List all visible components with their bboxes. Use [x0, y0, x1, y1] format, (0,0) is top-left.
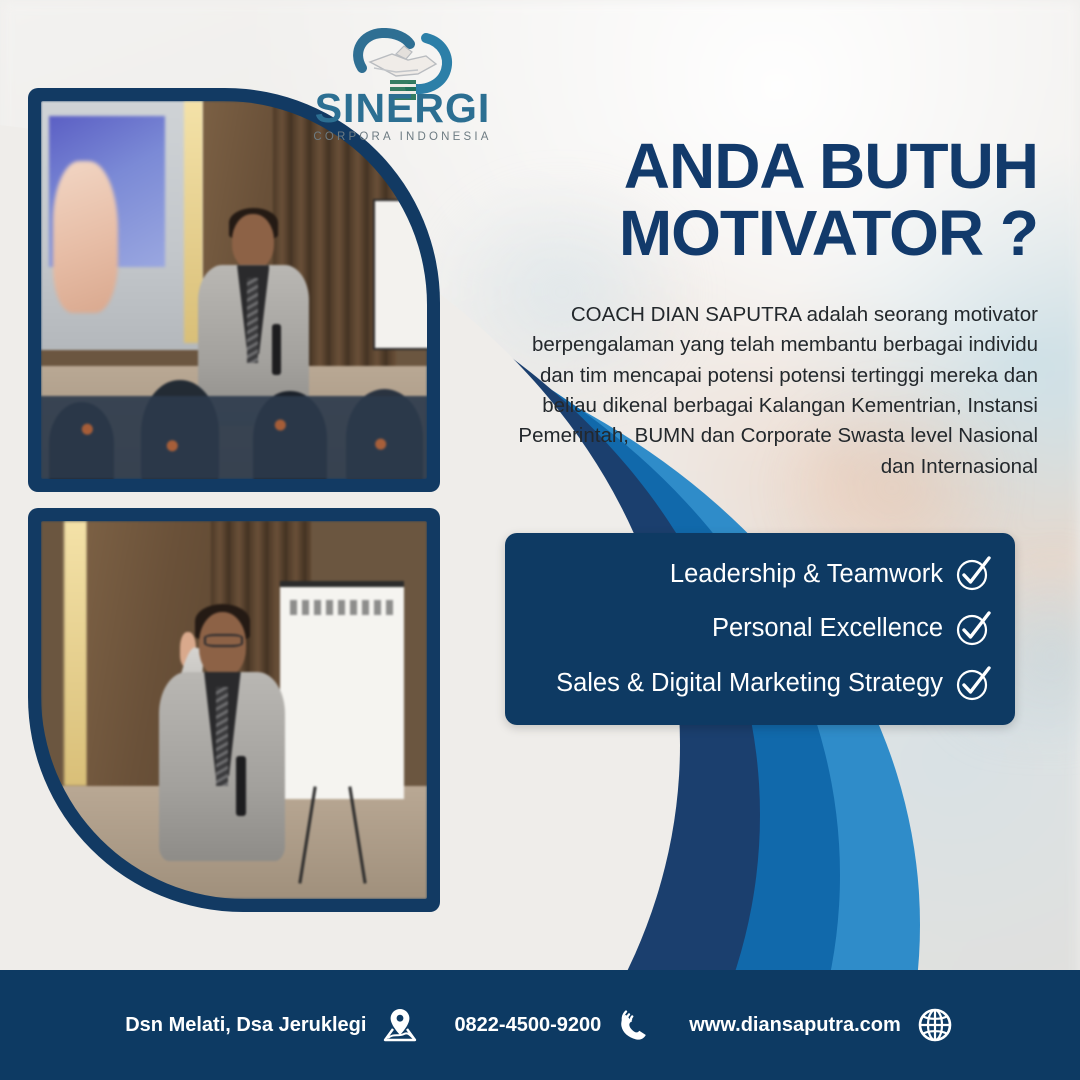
service-item[interactable]: Personal Excellence: [525, 609, 993, 649]
services-box: Leadership & Teamwork Personal Excellenc…: [505, 533, 1015, 725]
footer-website-label: www.diansaputra.com: [689, 1014, 901, 1037]
service-item[interactable]: Leadership & Teamwork: [525, 554, 993, 594]
poster-canvas: SINERGI CORPORA INDONESIA ANDA BUTUH MOT…: [0, 0, 1080, 1080]
contact-footer: Dsn Melati, Dsa Jeruklegi 0822-4500-9200…: [0, 970, 1080, 1080]
map-pin-icon: [380, 1005, 420, 1045]
footer-phone-label: 0822-4500-9200: [454, 1014, 601, 1037]
footer-address-label: Dsn Melati, Dsa Jeruklegi: [125, 1014, 366, 1037]
photo-bottom-image: [41, 521, 427, 899]
headline: ANDA BUTUH MOTIVATOR ?: [418, 136, 1038, 265]
check-circle-icon: [953, 554, 993, 594]
photo-frame-bottom: [28, 508, 440, 912]
globe-icon: [915, 1005, 955, 1045]
headline-line-2: MOTIVATOR ?: [418, 203, 1038, 264]
service-label: Personal Excellence: [712, 614, 943, 643]
check-circle-icon: [953, 609, 993, 649]
service-label: Sales & Digital Marketing Strategy: [556, 669, 943, 698]
logo-wordmark: SINERGI: [300, 88, 505, 129]
footer-website[interactable]: www.diansaputra.com: [689, 1005, 955, 1045]
body-paragraph: COACH DIAN SAPUTRA adalah seorang motiva…: [498, 300, 1038, 482]
headline-line-1: ANDA BUTUH: [418, 136, 1038, 197]
check-circle-icon: [953, 664, 993, 704]
footer-address[interactable]: Dsn Melati, Dsa Jeruklegi: [125, 1005, 420, 1045]
footer-phone[interactable]: 0822-4500-9200: [454, 1005, 655, 1045]
service-item[interactable]: Sales & Digital Marketing Strategy: [525, 664, 993, 704]
brand-logo: SINERGI CORPORA INDONESIA: [300, 28, 505, 146]
service-label: Leadership & Teamwork: [670, 560, 943, 589]
photo-top-image: [41, 101, 427, 479]
ringing-phone-icon: [615, 1005, 655, 1045]
photo-frame-top: [28, 88, 440, 492]
